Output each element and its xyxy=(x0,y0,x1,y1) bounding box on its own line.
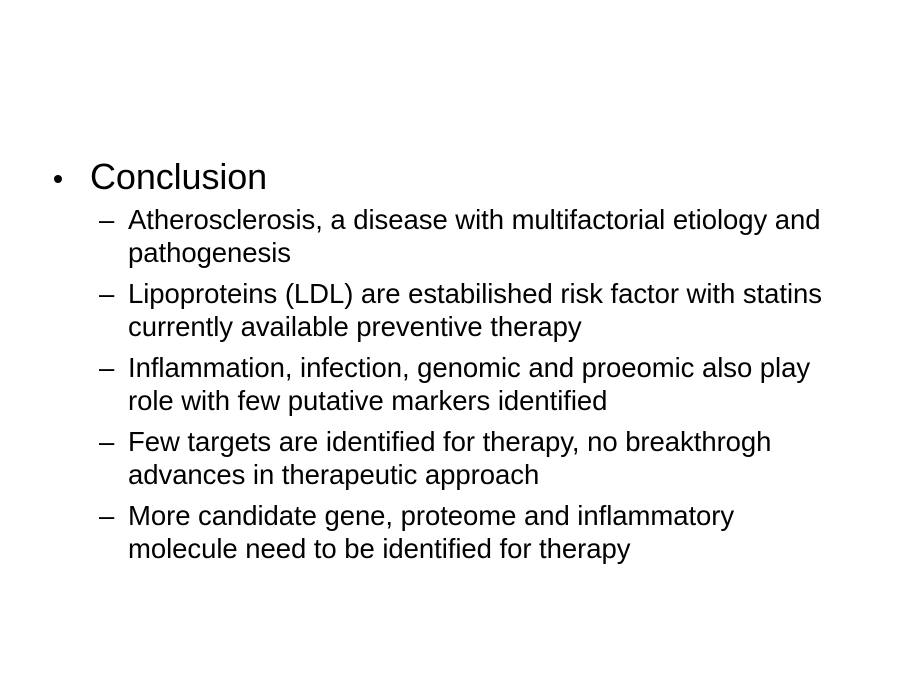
list-item: – More candidate gene, proteome and infl… xyxy=(0,499,900,565)
list-item: – Atherosclerosis, a disease with multif… xyxy=(0,203,900,269)
dash-bullet-icon: – xyxy=(99,499,114,532)
list-item: – Inflammation, infection, genomic and p… xyxy=(0,351,900,417)
dash-bullet-icon: – xyxy=(99,203,114,236)
list-item-text: Atherosclerosis, a disease with multifac… xyxy=(128,203,842,269)
list-item-text: Few targets are identified for therapy, … xyxy=(128,425,842,491)
list-item: – Lipoproteins (LDL) are estabilished ri… xyxy=(0,277,900,343)
list-item: – Few targets are identified for therapy… xyxy=(0,425,900,491)
slide-content-placeholder: Conclusion – Atherosclerosis, a disease … xyxy=(0,156,900,565)
list-item-text: Lipoproteins (LDL) are estabilished risk… xyxy=(128,277,842,343)
bullet-item-conclusion: Conclusion xyxy=(0,156,900,198)
dash-bullet-icon: – xyxy=(99,277,114,310)
dash-bullet-icon: – xyxy=(99,425,114,458)
list-item-text: More candidate gene, proteome and inflam… xyxy=(128,499,842,565)
list-item-text: Inflammation, infection, genomic and pro… xyxy=(128,351,842,417)
sub-bullet-list: – Atherosclerosis, a disease with multif… xyxy=(0,203,900,565)
dash-bullet-icon: – xyxy=(99,351,114,384)
bullet-round-icon xyxy=(54,175,62,183)
presentation-slide: Conclusion – Atherosclerosis, a disease … xyxy=(0,0,900,675)
slide-heading-text: Conclusion xyxy=(90,156,267,198)
